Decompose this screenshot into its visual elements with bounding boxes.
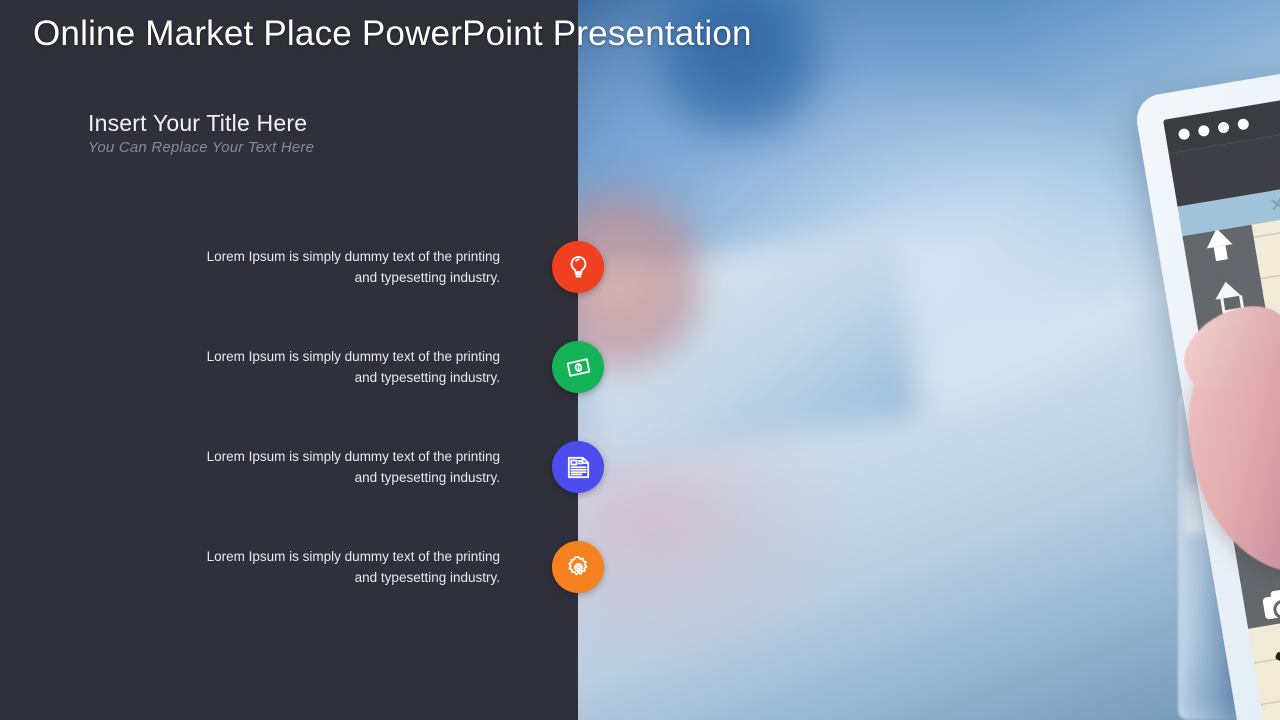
news-document-icon <box>565 454 592 481</box>
money-badge <box>552 341 604 393</box>
lightbulb-icon <box>565 254 592 281</box>
bullet-icon-4[interactable] <box>552 541 604 593</box>
presentation-slide: ✕ A+ ONLINE MARKETING <box>0 0 1280 720</box>
list-item: Lorem Ipsum is simply dummy text of the … <box>0 546 578 610</box>
window-dot-icon <box>1237 117 1250 130</box>
bullet-text: Lorem Ipsum is simply dummy text of the … <box>200 246 500 288</box>
bullet-icon-1[interactable] <box>552 241 604 293</box>
list-item: Lorem Ipsum is simply dummy text of the … <box>0 346 578 410</box>
arrow-up-outline-icon[interactable] <box>1204 270 1249 310</box>
gear-badge <box>552 541 604 593</box>
app-window-titlebar <box>1163 20 1280 154</box>
money-icon <box>565 354 592 381</box>
section-subheading: You Can Replace Your Text Here <box>88 139 314 156</box>
section-heading: Insert Your Title Here <box>88 110 314 137</box>
news-document-badge <box>552 441 604 493</box>
close-icon[interactable]: ✕ <box>1269 194 1280 216</box>
window-dot-icon <box>1178 127 1191 140</box>
bullet-text: Lorem Ipsum is simply dummy text of the … <box>200 346 500 388</box>
window-dot-icon <box>1217 121 1230 134</box>
bullet-text: Lorem Ipsum is simply dummy text of the … <box>200 446 500 488</box>
bullet-icon-2[interactable] <box>552 341 604 393</box>
camera-icon[interactable] <box>1257 587 1280 627</box>
list-item: Lorem Ipsum is simply dummy text of the … <box>0 446 578 510</box>
background-photo: ✕ A+ ONLINE MARKETING <box>578 0 1280 720</box>
subtitle-block: Insert Your Title Here You Can Replace Y… <box>88 110 314 156</box>
gear-icon <box>565 554 592 581</box>
window-dot-icon <box>1197 124 1210 137</box>
page-title: Online Market Place PowerPoint Presentat… <box>0 14 900 54</box>
list-item: Lorem Ipsum is simply dummy text of the … <box>0 246 578 310</box>
bullet-icon-3[interactable] <box>552 441 604 493</box>
bullet-text: Lorem Ipsum is simply dummy text of the … <box>200 546 500 588</box>
lightbulb-badge <box>552 241 604 293</box>
